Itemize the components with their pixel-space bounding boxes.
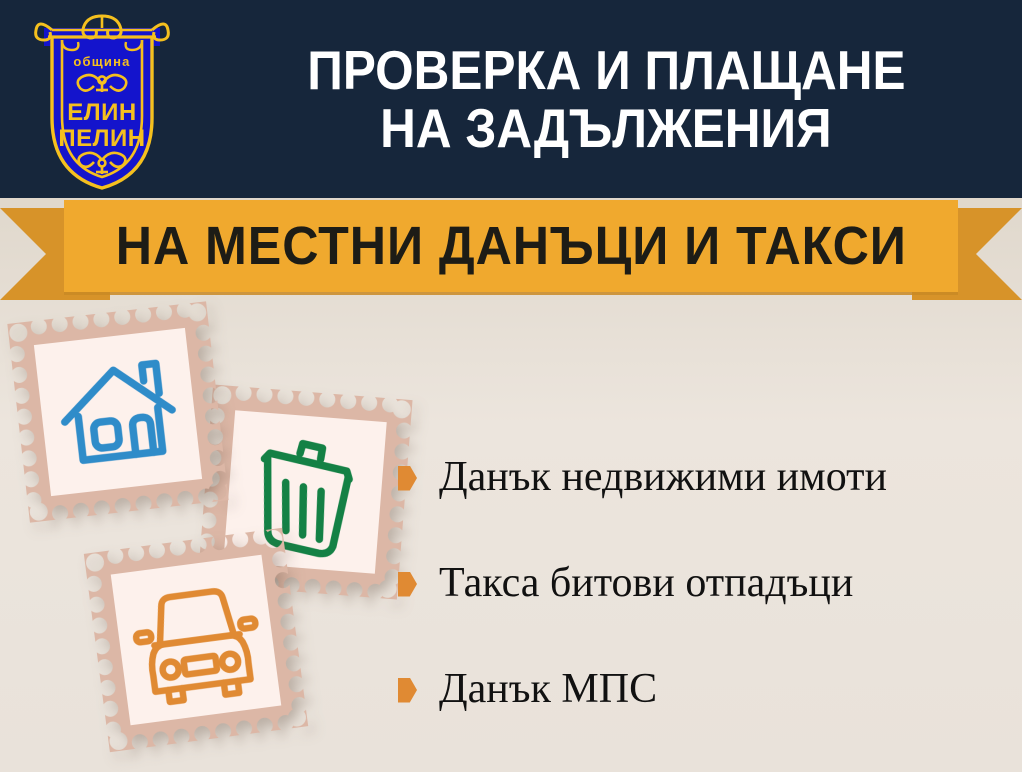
list-item[interactable]: Данък недвижими имоти <box>398 424 1018 530</box>
arrow-bullet-icon <box>398 466 417 491</box>
title-line-2: НА ЗАДЪЛЖЕНИЯ <box>380 99 832 157</box>
title-line-1: ПРОВЕРКА И ПЛАЩАНЕ <box>307 41 905 99</box>
list-item-label: Данък недвижими имоти <box>439 456 887 498</box>
list-item[interactable]: Такса битови отпадъци <box>398 530 1018 636</box>
poster-title: ПРОВЕРКА И ПЛАЩАНЕ НА ЗАДЪЛЖЕНИЯ <box>190 0 1022 198</box>
list-item-label: Данък МПС <box>439 668 657 710</box>
list-item[interactable]: Данък МПС <box>398 636 1018 742</box>
arrow-bullet-icon <box>398 678 417 703</box>
stamp-vehicle-tax <box>84 528 308 752</box>
ribbon-band: НА МЕСТНИ ДАНЪЦИ И ТАКСИ <box>64 200 958 292</box>
tax-type-list: Данък недвижими имоти Такса битови отпад… <box>398 424 1018 742</box>
poster-canvas: община ЕЛИН ПЕЛИН ПРОВЕРКА <box>0 0 1022 772</box>
ribbon-label: НА МЕСТНИ ДАНЪЦИ И ТАКСИ <box>115 215 906 277</box>
crest-icon: община ЕЛИН ПЕЛИН <box>22 6 182 192</box>
list-item-label: Такса битови отпадъци <box>439 562 853 604</box>
crest-line-main2: ПЕЛИН <box>58 125 145 152</box>
subtitle-ribbon: НА МЕСТНИ ДАНЪЦИ И ТАКСИ <box>0 196 1022 300</box>
stamp-paper <box>34 328 202 496</box>
crest-line-top: община <box>73 54 130 69</box>
crest-line-main1: ЕЛИН <box>67 99 136 126</box>
municipality-crest-logo: община ЕЛИН ПЕЛИН <box>22 6 182 192</box>
arrow-bullet-icon <box>398 572 417 597</box>
stamp-property-tax <box>7 301 228 522</box>
